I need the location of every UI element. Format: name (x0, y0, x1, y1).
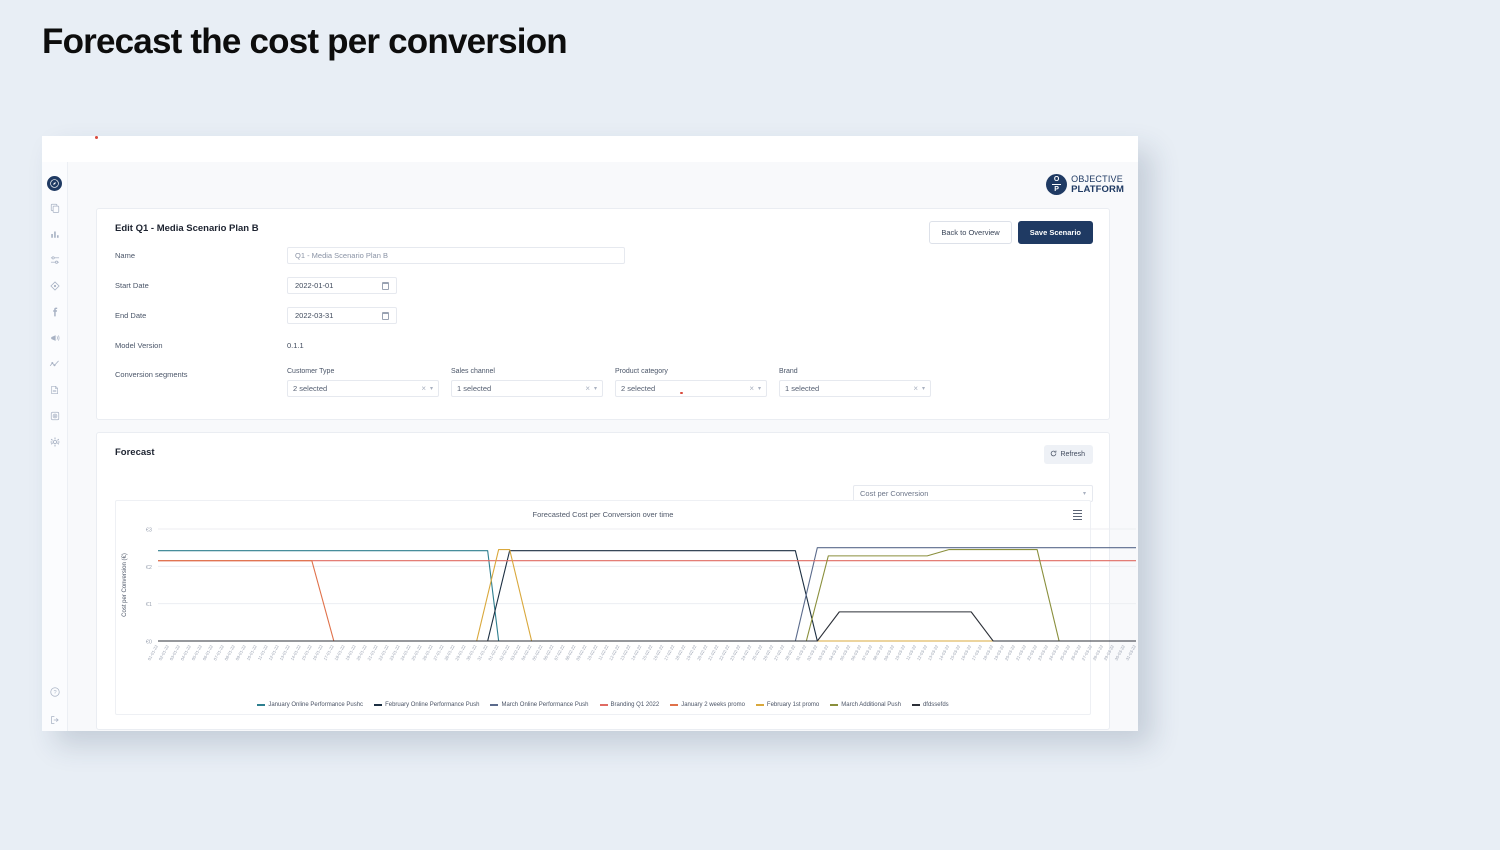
chevron-down-icon[interactable]: ▾ (922, 385, 925, 392)
metric-select-value: Cost per Conversion (860, 489, 1083, 498)
form-row-name: Name Q1 - Media Scenario Plan B (115, 247, 1091, 264)
sidebar-item-document[interactable] (46, 381, 64, 399)
sidebar-item-facebook[interactable] (46, 303, 64, 321)
legend-swatch (490, 704, 498, 706)
label-model-version: Model Version (115, 341, 287, 350)
refresh-button[interactable]: Refresh (1044, 445, 1093, 464)
sidebar-item-sliders[interactable] (46, 251, 64, 269)
forecast-chart: Forecasted Cost per Conversion over time… (115, 500, 1091, 715)
forecast-card: Forecast Refresh Cost per Conversion ▾ F… (96, 432, 1110, 730)
scenario-edit-card: Edit Q1 - Media Scenario Plan B Back to … (96, 208, 1110, 420)
validation-dot (680, 392, 683, 395)
legend-swatch (257, 704, 265, 706)
sidebar-item-diamond[interactable] (46, 277, 64, 295)
svg-text:?: ? (53, 690, 56, 696)
sidebar-item-megaphone[interactable] (46, 329, 64, 347)
legend-item[interactable]: March Additional Push (830, 702, 901, 708)
app-window: ? O P OBJECTIVE PLATFORM Edit Q1 - Medi (42, 136, 1138, 731)
sidebar-item-trend-line[interactable] (46, 355, 64, 373)
legend-item[interactable]: January 2 weeks promo (670, 702, 745, 708)
segment-value: 1 selected (785, 384, 913, 393)
name-input[interactable]: Q1 - Media Scenario Plan B (287, 247, 625, 264)
legend-item[interactable]: March Online Performance Push (490, 702, 588, 708)
segment-brand: Brand 1 selected × ▾ (779, 368, 931, 397)
notification-dot (95, 136, 98, 139)
sidebar-item-target[interactable] (46, 407, 64, 425)
end-date-input[interactable]: 2022-03-31 (287, 307, 397, 324)
segment-select[interactable]: 2 selected × ▾ (287, 380, 439, 397)
chart-title: Forecasted Cost per Conversion over time (116, 501, 1090, 519)
label-start-date: Start Date (115, 281, 287, 290)
page-content: O P OBJECTIVE PLATFORM Edit Q1 - Media S… (68, 162, 1138, 731)
segment-label: Brand (779, 368, 931, 375)
model-version-value: 0.1.1 (287, 341, 304, 350)
logo-line-2: PLATFORM (1071, 185, 1124, 195)
help-icon[interactable]: ? (46, 683, 64, 701)
legend-label: Branding Q1 2022 (611, 702, 660, 708)
legend-label: March Online Performance Push (501, 702, 588, 708)
svg-text:€1: €1 (146, 602, 152, 608)
logo-letter-bottom: P (1054, 186, 1059, 194)
legend-swatch (670, 704, 678, 706)
logo-bar: O P OBJECTIVE PLATFORM (68, 162, 1138, 208)
form-row-start-date: Start Date 2022-01-01 (115, 277, 1091, 294)
legend-swatch (600, 704, 608, 706)
sidebar-item-bar-chart[interactable] (46, 225, 64, 243)
conversion-segments-group: Customer Type 2 selected × ▾ Sales chann… (287, 368, 1091, 397)
chart-legend: January Online Performance PushcFebruary… (116, 702, 1090, 708)
logo-mark-icon: O P (1046, 174, 1067, 195)
start-date-input[interactable]: 2022-01-01 (287, 277, 397, 294)
svg-text:€3: €3 (146, 528, 152, 534)
sidebar-item-gear[interactable] (46, 433, 64, 451)
label-conversion-segments: Conversion segments (115, 370, 287, 379)
legend-item[interactable]: Branding Q1 2022 (600, 702, 660, 708)
segment-product-category: Product category 2 selected × ▾ (615, 368, 767, 397)
legend-label: February Online Performance Push (385, 702, 479, 708)
end-date-value: 2022-03-31 (295, 311, 333, 320)
chevron-down-icon[interactable]: ▾ (758, 385, 761, 392)
app-sidebar: ? (42, 162, 68, 731)
legend-swatch (830, 704, 838, 706)
logo-wordmark: OBJECTIVE PLATFORM (1071, 175, 1124, 194)
chevron-down-icon: ▾ (1083, 490, 1086, 497)
legend-label: March Additional Push (841, 702, 901, 708)
page-title: Forecast the cost per conversion (42, 22, 567, 62)
legend-swatch (374, 704, 382, 706)
segment-customer-type: Customer Type 2 selected × ▾ (287, 368, 439, 397)
chart-canvas: €0€1€2€3Cost per Conversion (€)01-01-220… (116, 523, 1138, 683)
label-name: Name (115, 251, 287, 260)
segment-value: 2 selected (293, 384, 421, 393)
sidebar-item-compass[interactable] (47, 176, 62, 191)
legend-label: dfdssefds (923, 702, 949, 708)
legend-swatch (756, 704, 764, 706)
save-scenario-button[interactable]: Save Scenario (1018, 221, 1093, 244)
svg-text:€0: €0 (146, 640, 152, 646)
close-icon[interactable]: × (585, 384, 594, 393)
close-icon[interactable]: × (913, 384, 922, 393)
calendar-icon[interactable] (382, 312, 389, 320)
segment-select[interactable]: 1 selected × ▾ (451, 380, 603, 397)
logout-icon[interactable] (46, 711, 64, 729)
name-input-value: Q1 - Media Scenario Plan B (295, 251, 388, 260)
close-icon[interactable]: × (749, 384, 758, 393)
legend-label: January 2 weeks promo (681, 702, 745, 708)
refresh-icon (1050, 450, 1057, 459)
segment-label: Sales channel (451, 368, 603, 375)
scenario-actions: Back to Overview Save Scenario (929, 221, 1093, 244)
segment-sales-channel: Sales channel 1 selected × ▾ (451, 368, 603, 397)
label-end-date: End Date (115, 311, 287, 320)
calendar-icon[interactable] (382, 282, 389, 290)
form-row-model-version: Model Version 0.1.1 (115, 337, 1091, 353)
segment-value: 1 selected (457, 384, 585, 393)
chevron-down-icon[interactable]: ▾ (594, 385, 597, 392)
brand-logo: O P OBJECTIVE PLATFORM (1046, 174, 1124, 195)
legend-item[interactable]: February Online Performance Push (374, 702, 479, 708)
segment-select[interactable]: 1 selected × ▾ (779, 380, 931, 397)
legend-label: February 1st promo (767, 702, 819, 708)
legend-swatch (912, 704, 920, 706)
svg-text:€2: €2 (146, 565, 152, 571)
window-top-strip (42, 136, 1138, 162)
legend-item[interactable]: February 1st promo (756, 702, 819, 708)
svg-text:Cost per Conversion (€): Cost per Conversion (€) (122, 553, 128, 617)
segment-select[interactable]: 2 selected × ▾ (615, 380, 767, 397)
legend-item[interactable]: January Online Performance Pushc (257, 702, 363, 708)
legend-item[interactable]: dfdssefds (912, 702, 949, 708)
svg-text:31-03-22: 31-03-22 (1125, 644, 1138, 662)
logo-letter-top: O (1054, 176, 1059, 184)
hamburger-menu-icon[interactable] (1073, 510, 1082, 522)
sidebar-item-copy[interactable] (46, 199, 64, 217)
start-date-value: 2022-01-01 (295, 281, 333, 290)
close-icon[interactable]: × (421, 384, 430, 393)
legend-label: January Online Performance Pushc (268, 702, 363, 708)
segment-label: Product category (615, 368, 767, 375)
form-row-end-date: End Date 2022-03-31 (115, 307, 1091, 324)
segment-value: 2 selected (621, 384, 749, 393)
back-to-overview-button[interactable]: Back to Overview (929, 221, 1011, 244)
segment-label: Customer Type (287, 368, 439, 375)
refresh-label: Refresh (1060, 451, 1085, 458)
chevron-down-icon[interactable]: ▾ (430, 385, 433, 392)
forecast-heading: Forecast (115, 447, 1091, 458)
